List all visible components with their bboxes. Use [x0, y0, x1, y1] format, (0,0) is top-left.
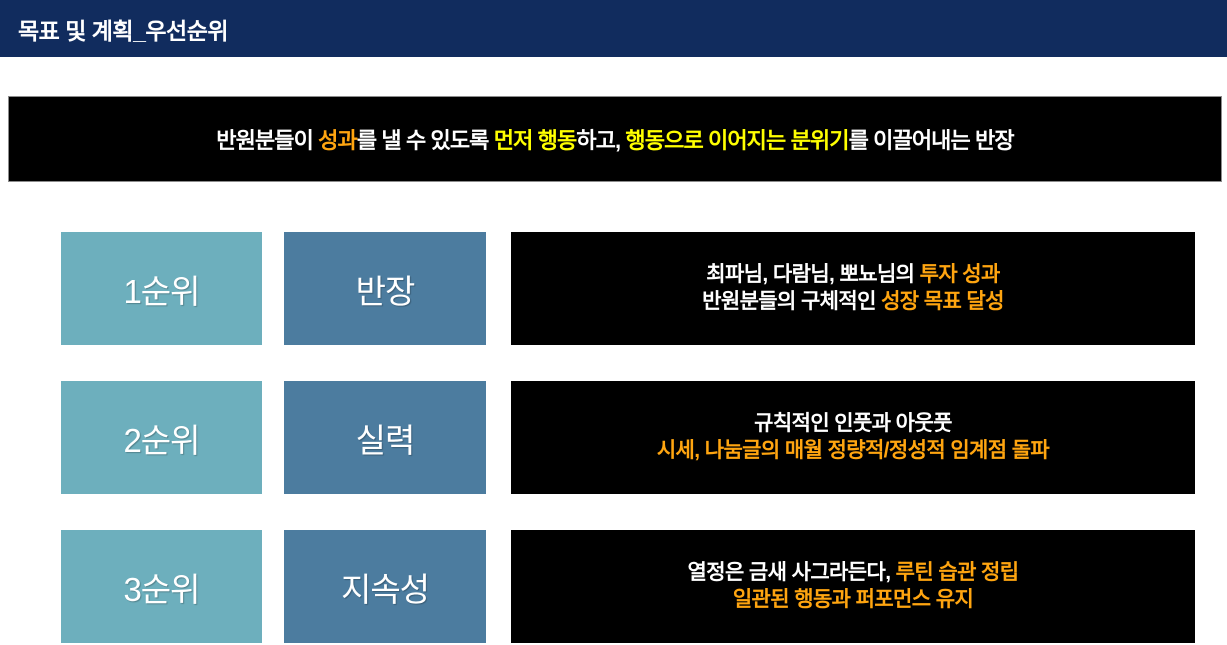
role-cell-3: 지속성 [284, 530, 486, 643]
detail-cell-1: 최파님, 다람님, 뽀뇨님의 투자 성과반원분들의 구체적인 성장 목표 달성 [511, 232, 1195, 345]
detail-line: 최파님, 다람님, 뽀뇨님의 투자 성과 [706, 262, 1000, 289]
detail-2-2-segment-0: 시세, 나눔글의 매월 정량적/정성적 임계점 돌파 [657, 439, 1049, 462]
headline-segment-1: 성과 [318, 128, 357, 153]
rank-label: 3순위 [123, 563, 199, 611]
role-label: 지속성 [341, 563, 429, 611]
detail-line: 반원분들의 구체적인 성장 목표 달성 [702, 289, 1004, 316]
detail-2-1-segment-0: 규칙적인 인풋과 아웃풋 [754, 412, 952, 435]
rank-cell-2: 2순위 [61, 381, 262, 494]
priority-rows: 1순위반장최파님, 다람님, 뽀뇨님의 투자 성과반원분들의 구체적인 성장 목… [0, 232, 1227, 643]
rank-label: 2순위 [123, 414, 199, 462]
priority-row: 2순위실력규칙적인 인풋과 아웃풋시세, 나눔글의 매월 정량적/정성적 임계점… [0, 381, 1227, 494]
detail-cell-2: 규칙적인 인풋과 아웃풋시세, 나눔글의 매월 정량적/정성적 임계점 돌파 [511, 381, 1195, 494]
headline-segment-4: 하고, [576, 128, 625, 153]
detail-3-1-segment-0: 열정은 금새 사그라든다, [688, 561, 896, 584]
detail-cell-3: 열정은 금새 사그라든다, 루틴 습관 정립일관된 행동과 퍼포먼스 유지 [511, 530, 1195, 643]
detail-line: 일관된 행동과 퍼포먼스 유지 [733, 587, 973, 614]
detail-1-2-segment-1: 성장 목표 달성 [881, 290, 1004, 313]
role-label: 실력 [356, 414, 415, 462]
page-title: 목표 및 계획_우선순위 [18, 12, 228, 46]
rank-label: 1순위 [123, 265, 199, 313]
headline-segment-6: 를 이끌어내는 반장 [849, 128, 1014, 153]
slide-title-bar: 목표 및 계획_우선순위 [0, 0, 1227, 57]
priority-row: 3순위지속성열정은 금새 사그라든다, 루틴 습관 정립일관된 행동과 퍼포먼스… [0, 530, 1227, 643]
rank-cell-3: 3순위 [61, 530, 262, 643]
detail-1-1-segment-1: 투자 성과 [920, 263, 1000, 286]
rank-cell-1: 1순위 [61, 232, 262, 345]
headline-segment-2: 를 낼 수 있도록 [357, 128, 494, 153]
role-cell-2: 실력 [284, 381, 486, 494]
detail-line: 열정은 금새 사그라든다, 루틴 습관 정립 [688, 560, 1019, 587]
headline-segment-0: 반원분들이 [216, 128, 318, 153]
detail-line: 규칙적인 인풋과 아웃풋 [754, 411, 952, 438]
role-cell-1: 반장 [284, 232, 486, 345]
detail-1-2-segment-0: 반원분들의 구체적인 [702, 290, 881, 313]
detail-1-1-segment-0: 최파님, 다람님, 뽀뇨님의 [706, 263, 919, 286]
detail-3-2-segment-0: 일관된 행동과 퍼포먼스 유지 [733, 588, 973, 611]
role-label: 반장 [356, 265, 415, 313]
headline-banner: 반원분들이 성과를 낼 수 있도록 먼저 행동하고, 행동으로 이어지는 분위기… [8, 96, 1222, 182]
headline-segment-3: 먼저 행동 [494, 128, 577, 153]
headline-text: 반원분들이 성과를 낼 수 있도록 먼저 행동하고, 행동으로 이어지는 분위기… [216, 123, 1014, 155]
headline-segment-5: 행동으로 이어지는 분위기 [625, 128, 848, 153]
detail-line: 시세, 나눔글의 매월 정량적/정성적 임계점 돌파 [657, 438, 1049, 465]
detail-3-1-segment-1: 루틴 습관 정립 [896, 561, 1019, 584]
priority-row: 1순위반장최파님, 다람님, 뽀뇨님의 투자 성과반원분들의 구체적인 성장 목… [0, 232, 1227, 345]
